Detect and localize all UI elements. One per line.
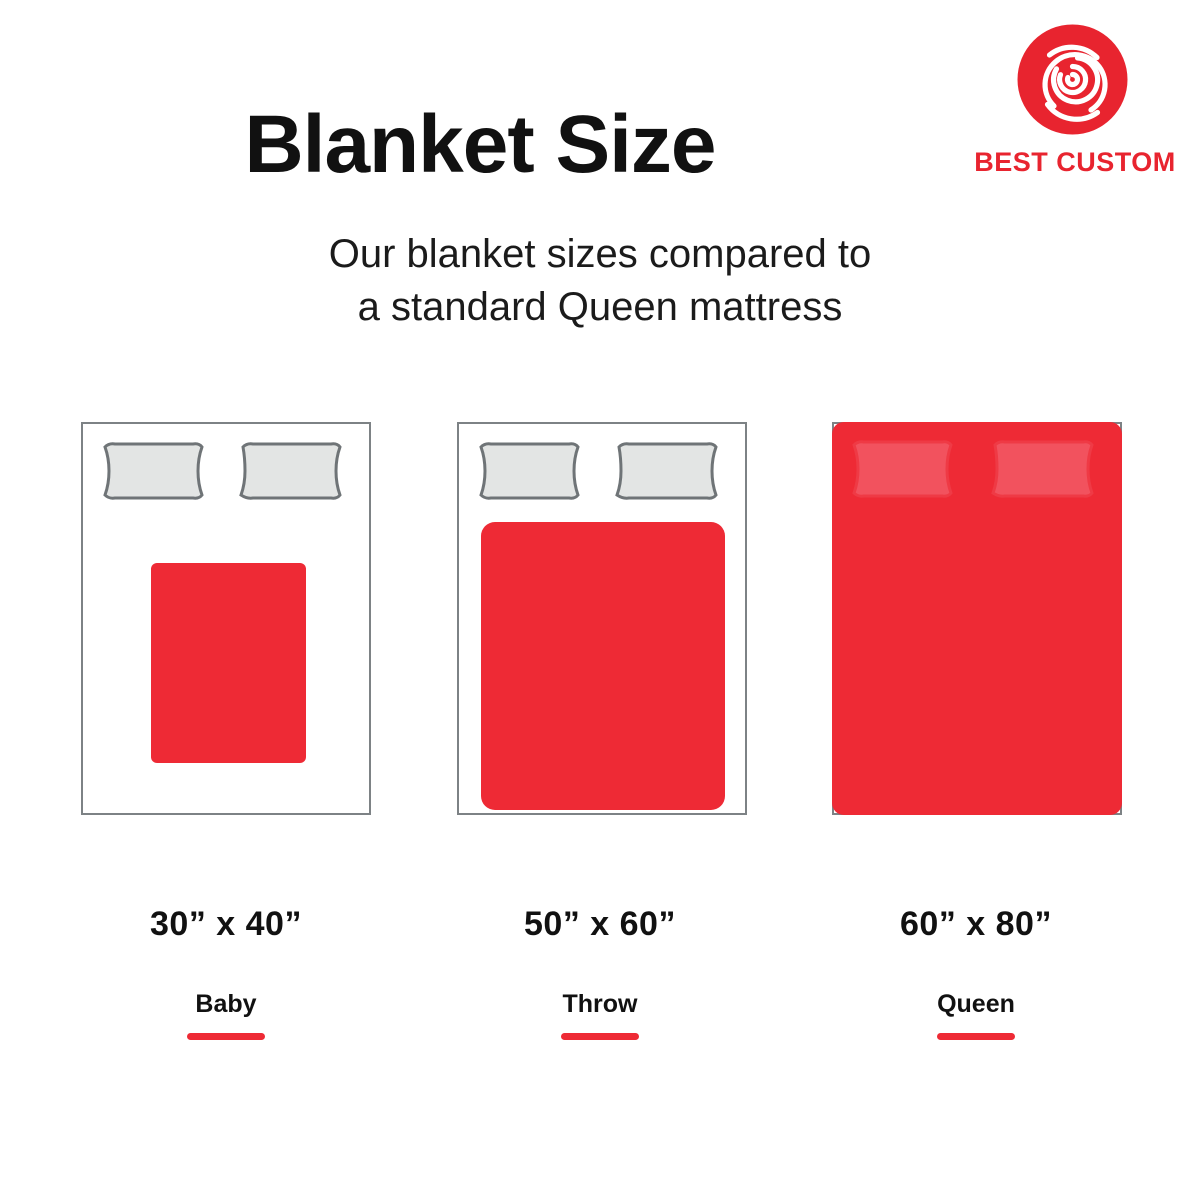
dimensions-label-queen: 60” x 80” (826, 905, 1126, 944)
page-subtitle-line-2: a standard Queen mattress (0, 281, 1200, 334)
brand-name: BEST CUSTOM (960, 147, 1190, 178)
bed-diagram-baby (81, 422, 371, 815)
size-name-baby: Baby (76, 990, 376, 1019)
dimensions-label-baby: 30” x 40” (76, 905, 376, 944)
blanket-size-infographic: BEST CUSTOM Blanket Size Our blanket siz… (0, 0, 1200, 1200)
pillow-left-throw (481, 444, 578, 498)
accent-underline-throw (561, 1033, 639, 1040)
caption-baby: 30” x 40” Baby (76, 905, 376, 1040)
accent-underline-baby (187, 1033, 265, 1040)
caption-queen: 60” x 80” Queen (826, 905, 1126, 1040)
fingerprint-icon (1015, 22, 1130, 137)
page-subtitle: Our blanket sizes compared to a standard… (0, 228, 1200, 334)
page-title: Blanket Size (0, 104, 960, 186)
pillow-left-queen (854, 442, 951, 496)
size-name-throw: Throw (450, 990, 750, 1019)
blanket-throw (481, 522, 725, 810)
pillow-right-baby (241, 444, 340, 498)
accent-underline-queen (937, 1033, 1015, 1040)
pillow-right-queen (993, 442, 1092, 496)
blanket-baby (151, 563, 306, 763)
size-name-queen: Queen (826, 990, 1126, 1019)
brand-logo: BEST CUSTOM (960, 22, 1190, 192)
caption-throw: 50” x 60” Throw (450, 905, 750, 1040)
page-subtitle-line-1: Our blanket sizes compared to (0, 228, 1200, 281)
pillow-right-throw (617, 444, 716, 498)
bed-diagram-queen (832, 422, 1122, 815)
bed-diagram-throw (457, 422, 747, 815)
dimensions-label-throw: 50” x 60” (450, 905, 750, 944)
pillow-left-baby (105, 444, 202, 498)
